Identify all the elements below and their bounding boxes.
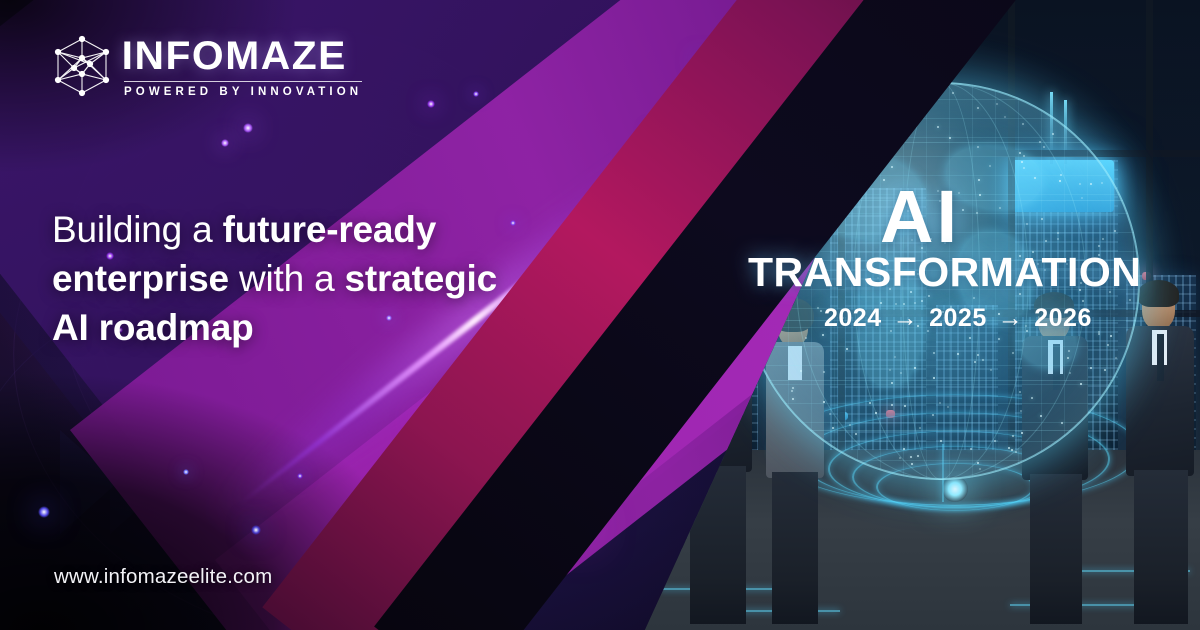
headline-segment-bold: AI roadmap bbox=[52, 307, 254, 348]
year-2026: 2026 bbox=[1034, 306, 1092, 331]
brand-wordmark: INFOMAZE bbox=[122, 36, 365, 76]
year-2024: 2024 bbox=[824, 306, 882, 331]
sparkle-dot bbox=[38, 506, 50, 518]
arrow-right-icon: → bbox=[998, 306, 1024, 331]
headline-segment-bold: enterprise bbox=[52, 258, 229, 299]
transformation-headline: TRANSFORMATION bbox=[748, 252, 1141, 293]
page-title: Building a future-ready enterprise with … bbox=[52, 205, 612, 353]
arrow-right-icon: → bbox=[893, 306, 919, 331]
brand-logo[interactable]: INFOMAZE POWERED BY INNOVATION bbox=[50, 34, 362, 99]
sparkle-dot bbox=[251, 525, 261, 535]
ai-headline: AI bbox=[880, 180, 960, 254]
headline-segment-bold: strategic bbox=[345, 258, 497, 299]
brand-tagline: POWERED BY INNOVATION bbox=[124, 87, 362, 99]
sparkle-dot bbox=[297, 473, 303, 479]
vignette-top-left bbox=[0, 0, 420, 220]
brand-logo-text: INFOMAZE POWERED BY INNOVATION bbox=[124, 34, 362, 99]
sparkle-dot bbox=[427, 100, 435, 108]
headline-segment: with a bbox=[229, 258, 345, 299]
brand-divider bbox=[124, 81, 362, 82]
website-url[interactable]: www.infomazeelite.com bbox=[54, 565, 272, 589]
network-hexagon-icon bbox=[50, 34, 114, 98]
sparkle-dot bbox=[243, 123, 253, 133]
sparkle-dot bbox=[221, 139, 229, 147]
sparkle-dot bbox=[473, 91, 479, 97]
sparkle-dot bbox=[183, 469, 189, 475]
year-2025: 2025 bbox=[929, 306, 987, 331]
marketing-banner: AI TRANSFORMATION 2024 → 2025 → 2026 bbox=[0, 0, 1200, 630]
headline-segment: Building a bbox=[52, 209, 223, 250]
headline-segment-bold: future-ready bbox=[223, 209, 436, 250]
roadmap-year-sequence: 2024 → 2025 → 2026 bbox=[824, 306, 1092, 331]
